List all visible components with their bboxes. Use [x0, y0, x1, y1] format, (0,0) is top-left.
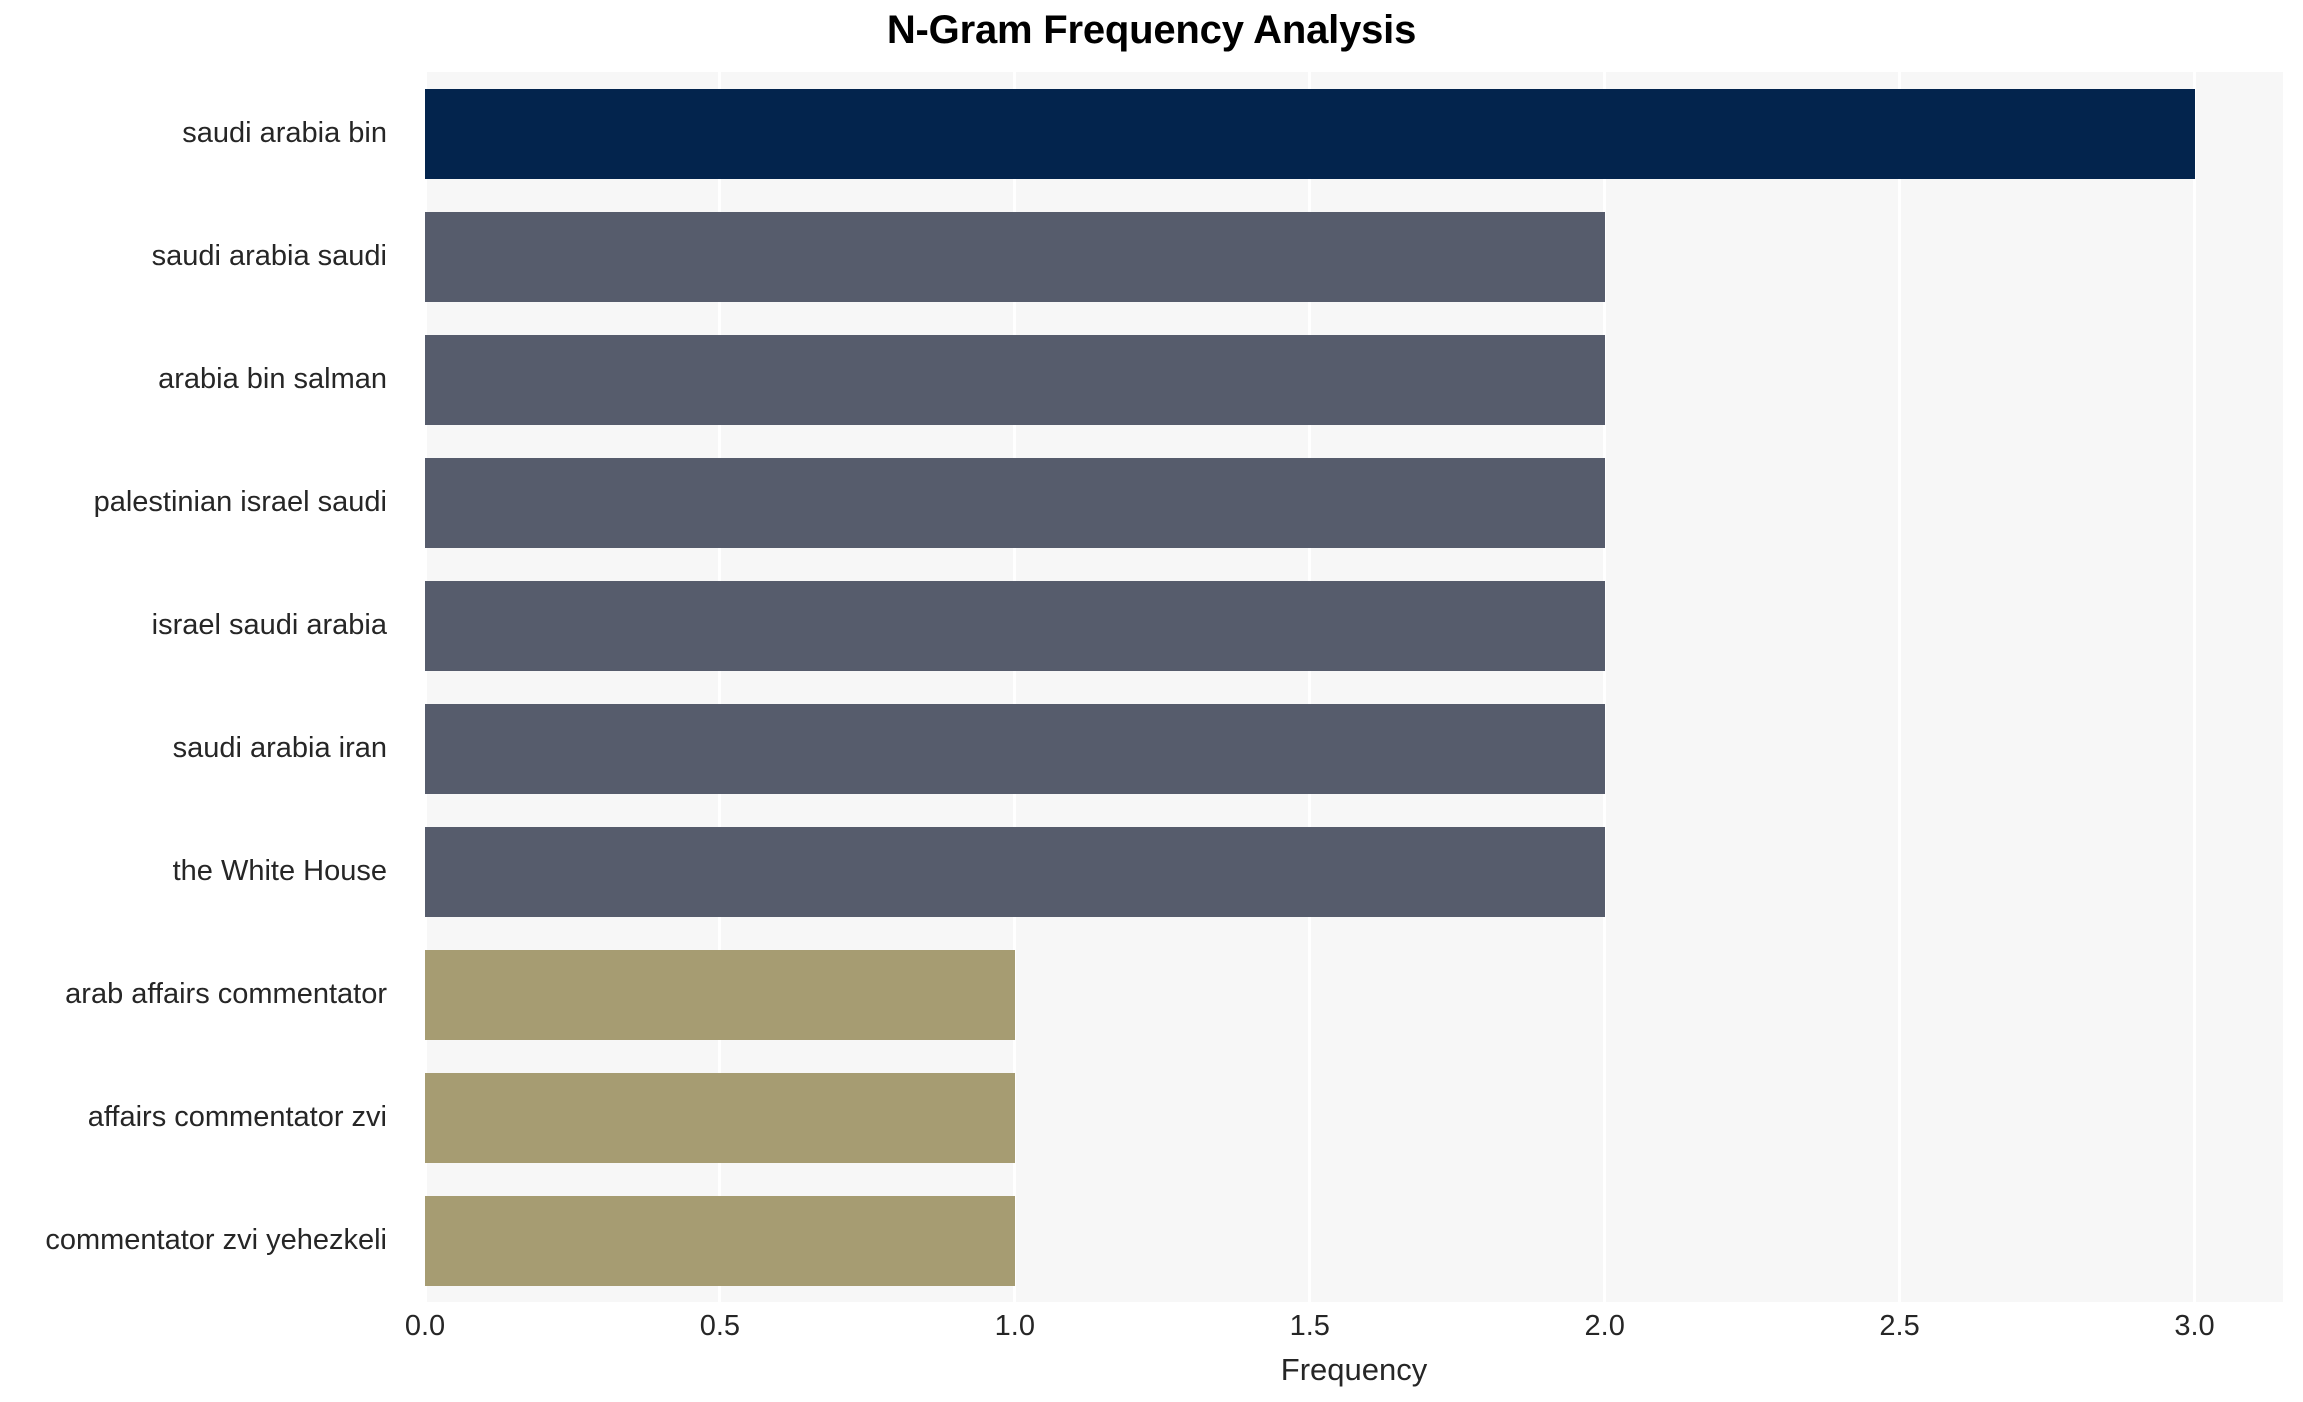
y-axis-tick-labels: saudi arabia binsaudi arabia saudiarabia… — [0, 72, 405, 1302]
bar[interactable] — [425, 1196, 1015, 1286]
bar-row[interactable] — [425, 687, 2283, 810]
bar-row[interactable] — [425, 564, 2283, 687]
plot-area — [425, 72, 2283, 1302]
bar-row[interactable] — [425, 318, 2283, 441]
bar-row[interactable] — [425, 441, 2283, 564]
bar[interactable] — [425, 1073, 1015, 1163]
bar[interactable] — [425, 458, 1605, 548]
bar-row[interactable] — [425, 810, 2283, 933]
bar-series — [425, 72, 2283, 1302]
bar[interactable] — [425, 950, 1015, 1040]
page-title: N-Gram Frequency Analysis — [0, 8, 2303, 53]
y-axis-tick-label: affairs commentator zvi — [0, 1056, 405, 1179]
x-axis-tick-label: 3.0 — [2174, 1310, 2214, 1343]
bar-row[interactable] — [425, 1179, 2283, 1302]
y-axis-tick-label: arabia bin salman — [0, 318, 405, 441]
y-axis-tick-label: saudi arabia saudi — [0, 195, 405, 318]
x-axis-tick-label: 0.0 — [405, 1310, 445, 1343]
bar-row[interactable] — [425, 1056, 2283, 1179]
x-axis-tick-label: 1.0 — [995, 1310, 1035, 1343]
bar[interactable] — [425, 212, 1605, 302]
x-axis-tick-label: 2.0 — [1585, 1310, 1625, 1343]
y-axis-tick-label: israel saudi arabia — [0, 564, 405, 687]
bar[interactable] — [425, 335, 1605, 425]
bar[interactable] — [425, 704, 1605, 794]
bar-row[interactable] — [425, 72, 2283, 195]
bar[interactable] — [425, 89, 2195, 179]
y-axis-tick-label: arab affairs commentator — [0, 933, 405, 1056]
bar[interactable] — [425, 581, 1605, 671]
bar[interactable] — [425, 827, 1605, 917]
x-axis-tick-labels: 0.00.51.01.52.02.53.0 — [425, 1310, 2283, 1354]
x-axis-tick-label: 0.5 — [700, 1310, 740, 1343]
y-axis-tick-label: the White House — [0, 810, 405, 933]
chart-figure: N-Gram Frequency Analysis saudi arabia b… — [0, 0, 2303, 1402]
x-axis-label: Frequency — [425, 1352, 2283, 1388]
y-axis-tick-label: commentator zvi yehezkeli — [0, 1179, 405, 1302]
y-axis-tick-label: saudi arabia bin — [0, 72, 405, 195]
x-axis-tick-label: 1.5 — [1290, 1310, 1330, 1343]
bar-row[interactable] — [425, 933, 2283, 1056]
bar-row[interactable] — [425, 195, 2283, 318]
y-axis-tick-label: palestinian israel saudi — [0, 441, 405, 564]
y-axis-tick-label: saudi arabia iran — [0, 687, 405, 810]
x-axis-tick-label: 2.5 — [1879, 1310, 1919, 1343]
